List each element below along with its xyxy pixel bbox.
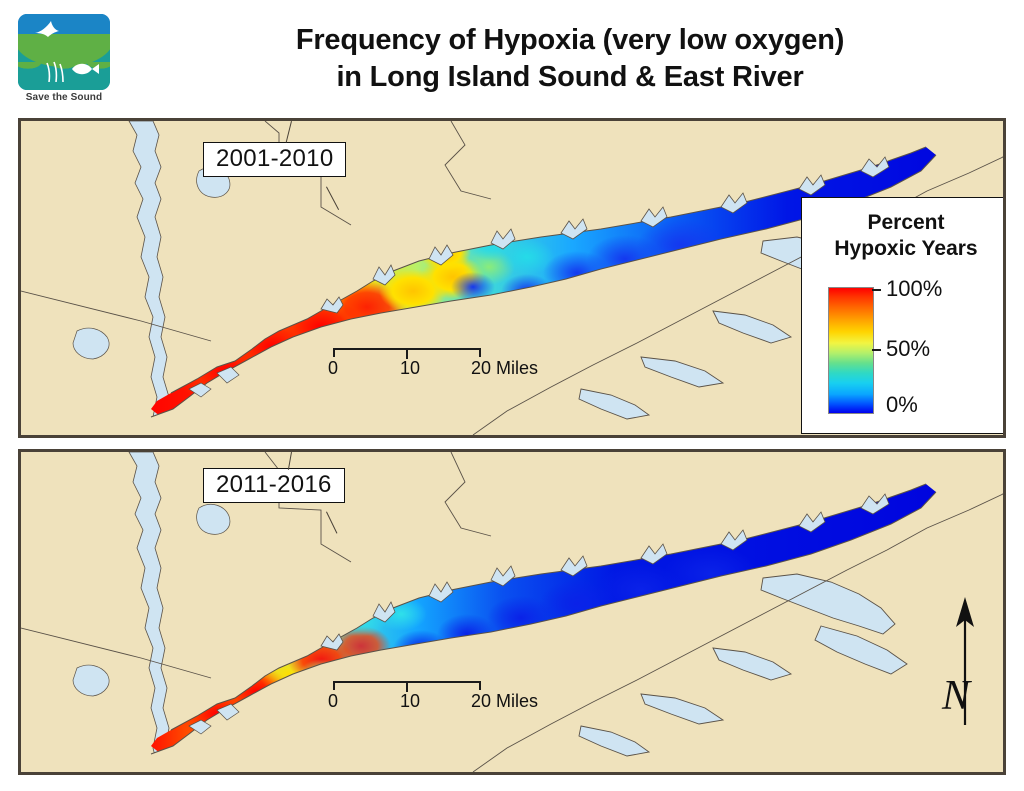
save-the-sound-logo: Save the Sound [18, 14, 114, 110]
scale-label-mid: 10 [400, 691, 420, 712]
legend-title-line-1: Percent [802, 210, 1006, 236]
scale-bar-top: 0 10 20 Miles [333, 348, 481, 380]
map-graphic-bottom [21, 452, 1003, 772]
map-panel-2001-2010[interactable]: 2001-2010 0 10 20 Miles Percent Hypoxic … [18, 118, 1006, 438]
legend-tick-mid [872, 349, 881, 351]
scale-label-start: 0 [328, 691, 338, 712]
scale-label-start: 0 [328, 358, 338, 379]
scale-label-end: 20 Miles [471, 358, 538, 379]
page-title: Frequency of Hypoxia (very low oxygen) i… [130, 22, 1010, 96]
north-arrow: N [938, 597, 992, 725]
logo-wordmark: Save the Sound [18, 92, 110, 103]
legend-tick-max [872, 289, 881, 291]
legend-label-min: 0% [886, 392, 918, 418]
map-figure: Save the Sound Frequency of Hypoxia (ver… [0, 0, 1024, 791]
scale-label-mid: 10 [400, 358, 420, 379]
figure-header: Save the Sound Frequency of Hypoxia (ver… [0, 0, 1024, 118]
legend-title: Percent Hypoxic Years [802, 210, 1006, 261]
bird-icon [34, 19, 68, 39]
map-panel-2011-2016[interactable]: 2011-2016 0 10 20 Miles [18, 449, 1006, 775]
legend-label-mid: 50% [886, 336, 930, 362]
legend-label-max: 100% [886, 276, 942, 302]
seagrass-icon [44, 60, 68, 82]
north-arrow-label: N [941, 673, 972, 719]
title-line-1: Frequency of Hypoxia (very low oxygen) [130, 22, 1010, 59]
legend-percent-hypoxic-years: Percent Hypoxic Years 100% 50% 0% [801, 197, 1006, 434]
logo-mark [18, 14, 110, 90]
scale-bar-bottom: 0 10 20 Miles [333, 681, 481, 713]
year-label-bottom: 2011-2016 [203, 468, 345, 503]
legend-color-ramp [828, 287, 874, 414]
year-label-top: 2001-2010 [203, 142, 346, 177]
scale-label-end: 20 Miles [471, 691, 538, 712]
title-line-2: in Long Island Sound & East River [130, 59, 1010, 96]
legend-title-line-2: Hypoxic Years [802, 236, 1006, 262]
fish-icon [70, 61, 100, 77]
